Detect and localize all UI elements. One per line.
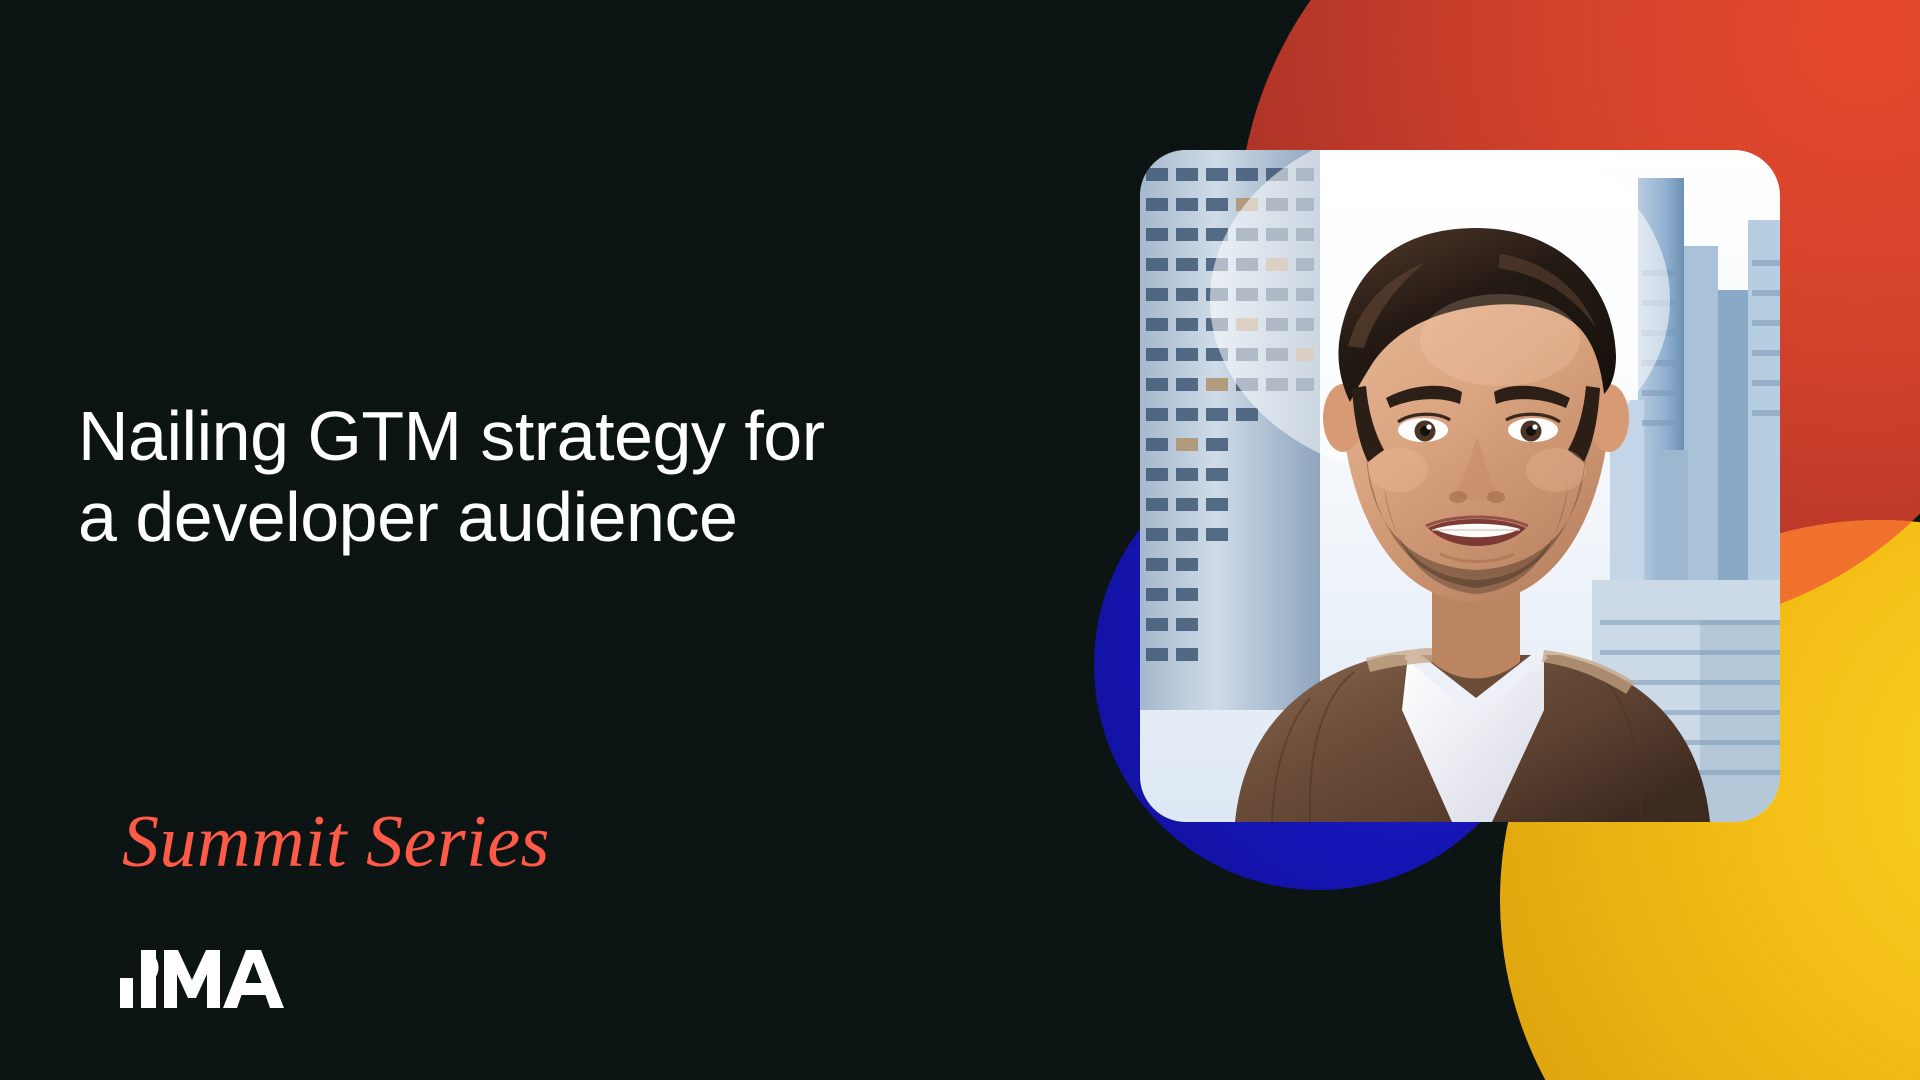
slide-canvas: Nailing GTM strategy for a developer aud… — [0, 0, 1920, 1080]
series-label: Summit Series — [122, 805, 550, 879]
page-title: Nailing GTM strategy for a developer aud… — [78, 396, 1088, 558]
speaker-photo-image — [1140, 150, 1780, 822]
pma-logo[interactable] — [120, 950, 320, 1014]
pma-logo-mark — [120, 950, 320, 1014]
speaker-photo — [1140, 150, 1780, 822]
